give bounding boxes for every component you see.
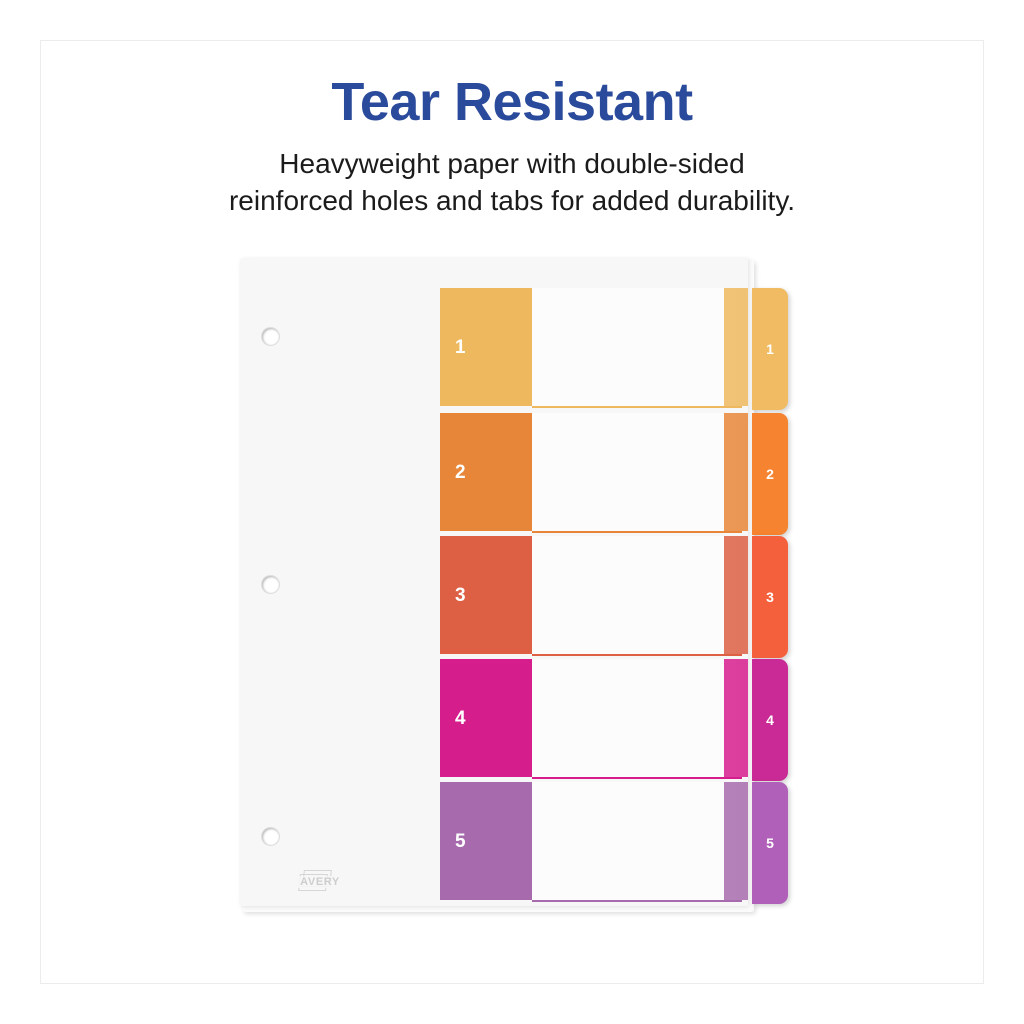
divider-tab-label: 2 xyxy=(766,467,774,481)
divider-number-label: 5 xyxy=(455,832,466,851)
divider-write-area xyxy=(532,782,736,900)
divider-sheet: 1 2 3 xyxy=(240,258,748,906)
divider-edge-strip xyxy=(724,782,748,900)
avery-logo-wordmark: AVERY xyxy=(285,876,355,888)
page-headline: Tear Resistant xyxy=(0,74,1024,131)
divider-tab: 4 xyxy=(752,659,788,781)
divider-row: 3 xyxy=(240,536,748,658)
divider-rule xyxy=(532,777,742,779)
divider-write-area xyxy=(532,536,736,654)
divider-tab: 2 xyxy=(752,413,788,535)
divider-row: 4 xyxy=(240,659,748,781)
divider-rule xyxy=(532,406,742,408)
divider-tab-label: 4 xyxy=(766,713,774,727)
divider-edge-strip xyxy=(724,288,748,406)
divider-write-area xyxy=(532,288,736,406)
avery-logo: AVERY xyxy=(285,870,355,896)
divider-tab: 5 xyxy=(752,782,788,904)
divider-edge-strip xyxy=(724,413,748,531)
divider-edge-strip xyxy=(724,659,748,777)
divider-number-block: 5 xyxy=(440,782,532,900)
divider-number-block: 1 xyxy=(440,288,532,406)
page-subtitle: Heavyweight paper with double-sided rein… xyxy=(0,146,1024,220)
divider-set: 1 2 3 xyxy=(240,258,788,914)
divider-number-block: 2 xyxy=(440,413,532,531)
divider-row: 1 xyxy=(240,288,748,410)
divider-write-area xyxy=(532,659,736,777)
divider-tab: 1 xyxy=(752,288,788,410)
product-image-canvas: Tear Resistant Heavyweight paper with do… xyxy=(0,0,1024,1024)
divider-edge-strip xyxy=(724,536,748,654)
divider-tab-label: 5 xyxy=(766,836,774,850)
divider-rule xyxy=(532,900,742,902)
divider-number-label: 4 xyxy=(455,709,466,728)
subtitle-line-1: Heavyweight paper with double-sided xyxy=(279,148,744,179)
subtitle-line-2: reinforced holes and tabs for added dura… xyxy=(0,183,1024,220)
divider-number-block: 3 xyxy=(440,536,532,654)
divider-tab-label: 1 xyxy=(766,342,774,356)
divider-rows: 1 2 3 xyxy=(240,258,748,906)
divider-tab: 3 xyxy=(752,536,788,658)
divider-tab-label: 3 xyxy=(766,590,774,604)
divider-rule xyxy=(532,654,742,656)
divider-write-area xyxy=(532,413,736,531)
divider-number-label: 2 xyxy=(455,463,466,482)
divider-number-block: 4 xyxy=(440,659,532,777)
divider-number-label: 3 xyxy=(455,586,466,605)
divider-row: 2 xyxy=(240,413,748,535)
divider-rule xyxy=(532,531,742,533)
divider-number-label: 1 xyxy=(455,338,466,357)
